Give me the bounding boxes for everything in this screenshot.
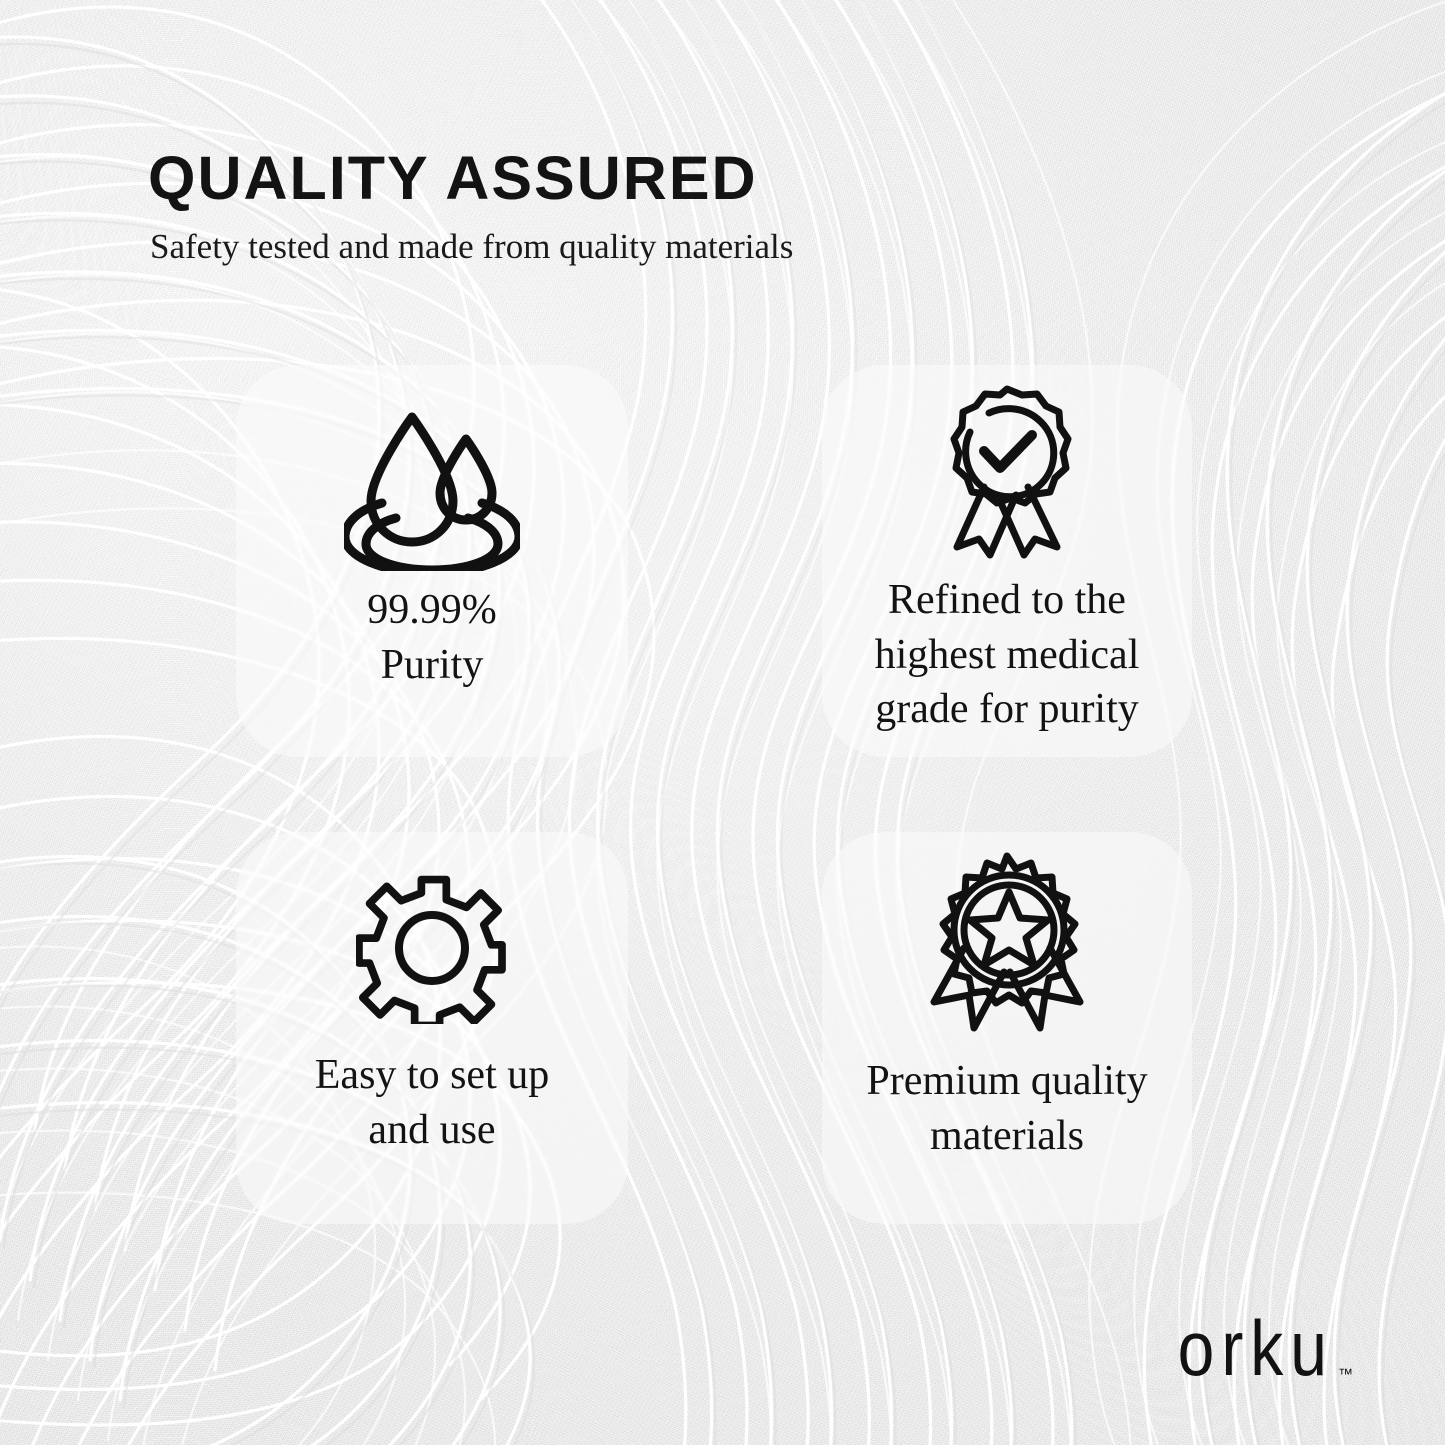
feature-card-premium-materials-text: Premium quality materials [866,1054,1147,1163]
feature-card-medical-grade-text: Refined to the highest medical grade for… [875,573,1140,737]
feature-card-medical-grade: Refined to the highest medical grade for… [822,365,1192,757]
feature-card-purity-text: 99.99% Purity [367,583,497,692]
brand-logo: orku ™ [1178,1321,1353,1387]
feature-card-easy-setup-text: Easy to set up and use [315,1048,549,1157]
page-title: QUALITY ASSURED [148,148,758,209]
feature-card-purity: 99.99% Purity [236,365,628,757]
quality-assured-infographic: QUALITY ASSURED Safety tested and made f… [0,0,1445,1445]
feature-card-easy-setup: Easy to set up and use [236,832,628,1224]
trademark-symbol: ™ [1338,1366,1353,1383]
water-droplet-ripple-icon [344,403,520,571]
gear-icon [356,872,508,1024]
feature-card-premium-materials: Premium quality materials [822,832,1192,1224]
brand-wordmark: orku [1178,1309,1334,1387]
page-subtitle: Safety tested and made from quality mate… [150,226,793,268]
award-badge-check-icon [932,383,1082,559]
award-medal-star-icon [926,852,1088,1032]
background-vignette [0,0,1445,1445]
